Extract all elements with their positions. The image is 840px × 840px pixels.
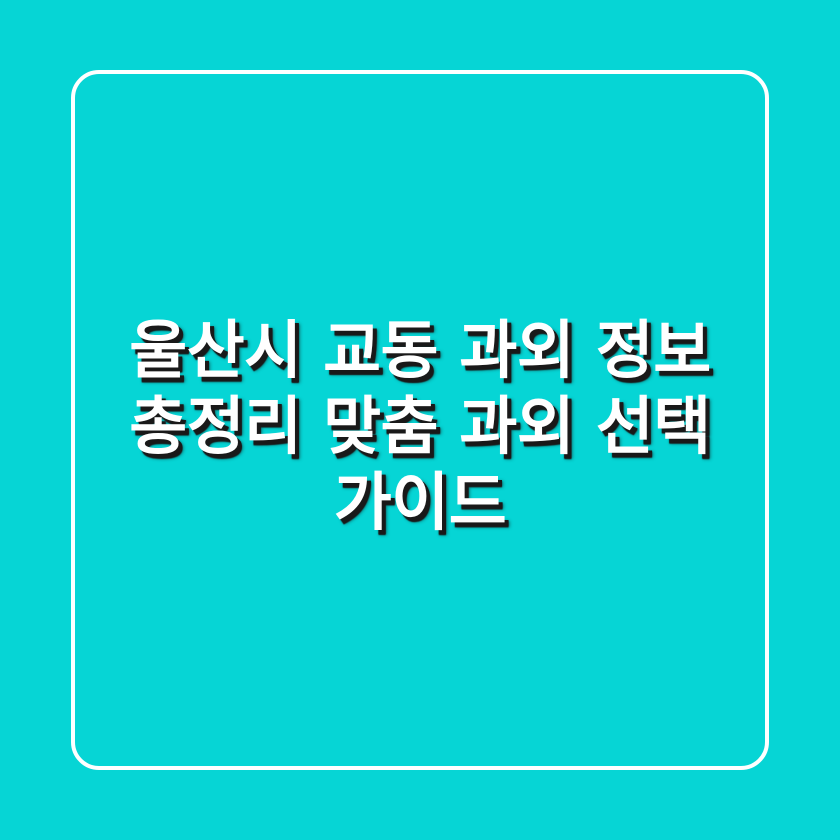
title-line-1: 울산시 교동 과외 정보 — [70, 313, 770, 389]
title-line-3: 가이드 — [70, 465, 770, 541]
title-line-2: 총정리 맞춤 과외 선택 — [70, 389, 770, 465]
thumbnail-card: 울산시 교동 과외 정보 총정리 맞춤 과외 선택 가이드 — [0, 0, 840, 840]
page-title: 울산시 교동 과외 정보 총정리 맞춤 과외 선택 가이드 — [70, 299, 770, 541]
